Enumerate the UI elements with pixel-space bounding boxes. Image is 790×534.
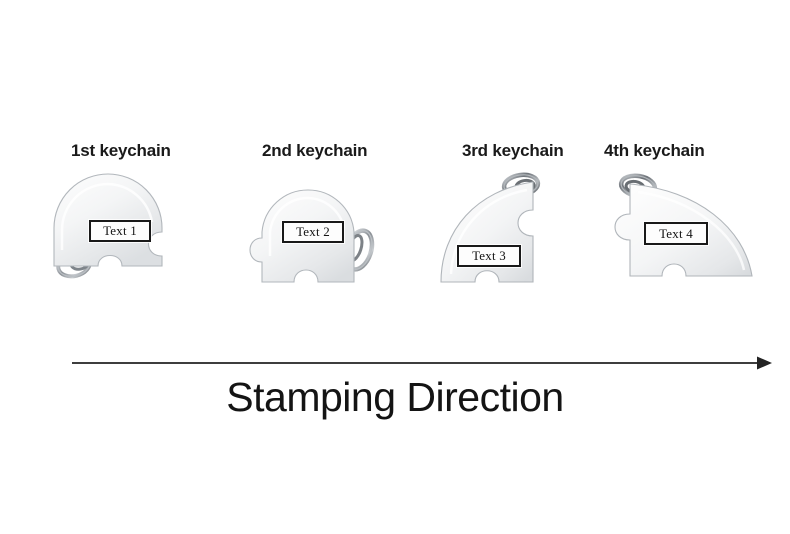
keychain-3-body xyxy=(441,182,533,282)
keychain-4-text-plate: Text 4 xyxy=(644,222,708,245)
keychain-caption-2: 2nd keychain xyxy=(262,141,367,161)
keychain-caption-1: 1st keychain xyxy=(71,141,171,161)
stamping-direction-label: Stamping Direction xyxy=(0,374,790,421)
keychain-1: Text 1 xyxy=(52,170,202,310)
keychain-4: Text 4 xyxy=(602,170,762,300)
figure-canvas: 1st keychain 2nd keychain 3rd keychain 4… xyxy=(0,0,790,534)
keychain-3: Text 3 xyxy=(437,170,567,320)
keychain-caption-3: 3rd keychain xyxy=(462,141,564,161)
keychain-caption-4: 4th keychain xyxy=(604,141,705,161)
arrow-icon xyxy=(0,352,790,376)
keychain-3-text-plate: Text 3 xyxy=(457,245,521,267)
keychain-2: Text 2 xyxy=(236,186,396,296)
stamping-direction-arrow xyxy=(0,352,790,376)
keychain-1-text-plate: Text 1 xyxy=(89,220,151,242)
arrow-head xyxy=(757,357,772,370)
keychain-2-text-plate: Text 2 xyxy=(282,221,344,243)
